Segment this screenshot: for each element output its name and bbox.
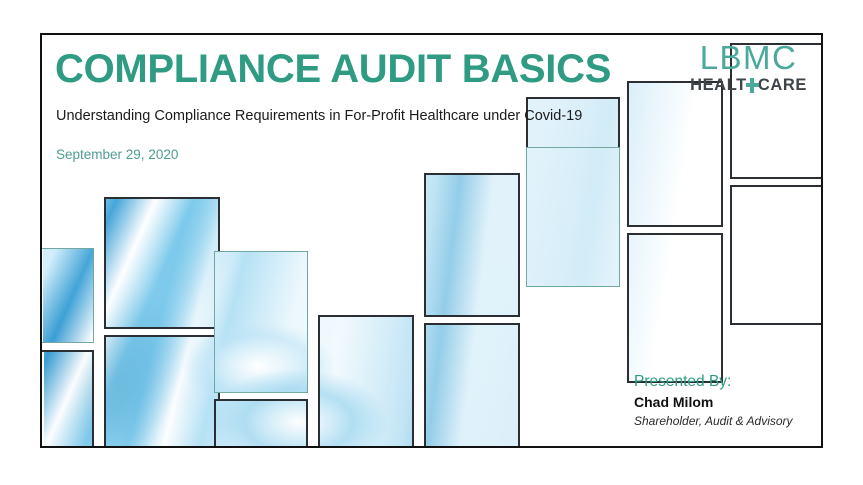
presenter-name: Chad Milom (634, 393, 793, 413)
mosaic-tile (42, 350, 94, 446)
presented-by-label: Presented By: (634, 371, 793, 393)
mosaic-tile-image (526, 147, 620, 287)
presenter-role: Shareholder, Audit & Advisory (634, 413, 793, 430)
mosaic-tile (42, 248, 94, 343)
mosaic-tile-image (424, 173, 520, 317)
slide-date: September 29, 2020 (56, 147, 178, 162)
healthcare-wordmark: HEALT CARE (690, 77, 807, 94)
slide-title: COMPLIANCE AUDIT BASICS (55, 47, 611, 92)
mosaic-tile (214, 399, 308, 446)
mosaic-tile-image (627, 81, 723, 227)
mosaic-tile (424, 323, 520, 446)
mosaic-tile (104, 335, 220, 446)
mosaic-tile-image (43, 248, 94, 343)
mosaic-tile-image (627, 233, 723, 383)
lbmc-healthcare-logo: LBMC HEALT CARE (690, 41, 807, 94)
mosaic-tile-image (214, 399, 308, 446)
presentation-slide: COMPLIANCE AUDIT BASICS Understanding Co… (40, 33, 823, 448)
medical-cross-icon (746, 78, 759, 93)
mosaic-tile-image (424, 323, 520, 446)
mosaic-tile (627, 81, 723, 227)
presenter-block: Presented By: Chad Milom Shareholder, Au… (634, 371, 793, 430)
mosaic-tile (214, 251, 308, 393)
mosaic-tile (424, 173, 520, 317)
mosaic-tile (730, 185, 821, 325)
mosaic-tile (526, 147, 620, 287)
slide-subtitle: Understanding Compliance Requirements in… (56, 108, 582, 124)
mosaic-tile (627, 233, 723, 383)
mosaic-tile-image (104, 335, 220, 446)
lbmc-wordmark: LBMC (690, 41, 807, 74)
mosaic-tile-image (104, 197, 220, 329)
healthcare-word-right: CARE (758, 77, 807, 94)
mosaic-tile (318, 315, 414, 446)
mosaic-tile-image (214, 251, 308, 393)
mosaic-tile (104, 197, 220, 329)
healthcare-word-left: HEALT (690, 77, 747, 94)
slide-canvas: COMPLIANCE AUDIT BASICS Understanding Co… (0, 0, 863, 485)
mosaic-tile-image (730, 185, 821, 325)
mosaic-tile-image (318, 315, 414, 446)
mosaic-tile-image (44, 350, 94, 446)
